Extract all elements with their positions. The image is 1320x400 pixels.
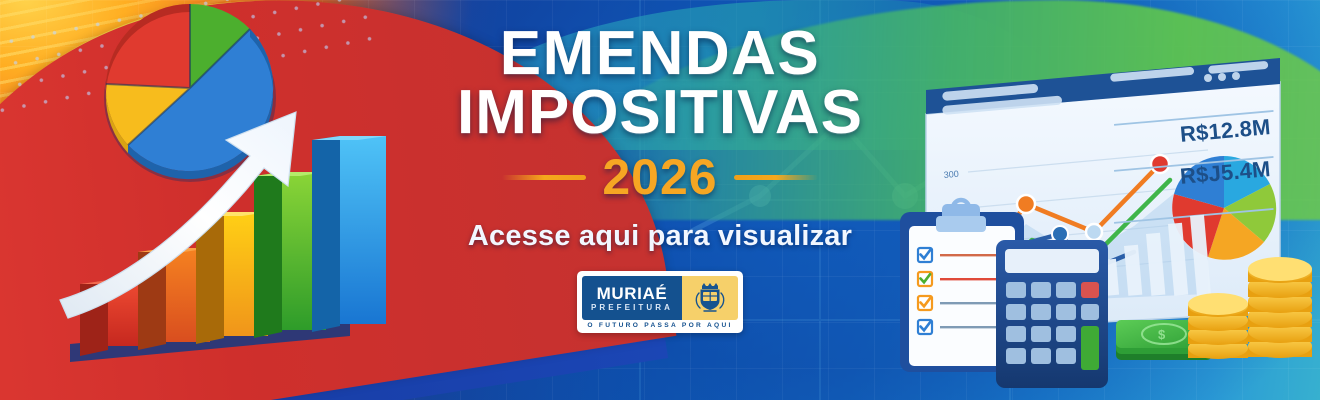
title-line-1: EMENDAS	[500, 22, 821, 85]
year-row: 2026	[502, 148, 817, 206]
title-line-2: IMPOSITIVAS	[457, 81, 863, 144]
coin	[1188, 293, 1248, 359]
subtitle-cta[interactable]: Acesse aqui para visualizar	[468, 220, 852, 253]
calculator-equals-key	[1081, 326, 1099, 370]
svg-text:$: $	[1158, 327, 1166, 342]
headline-block: EMENDAS IMPOSITIVAS 2026 Acesse aqui par…	[410, 22, 910, 400]
right-dashboard-artwork: 300 200 100	[900, 0, 1320, 400]
dash-right-icon	[734, 175, 818, 180]
dash-left-icon	[502, 175, 586, 180]
logo-wordmark-block: MURIAÉ PREFEITURA	[582, 276, 682, 320]
coin-stack-large	[1248, 257, 1312, 358]
coin-stack-small	[1188, 293, 1248, 359]
calculator-clear-key	[1081, 282, 1099, 298]
left-infographic-artwork	[50, 0, 410, 400]
coat-of-arms-icon	[691, 279, 729, 317]
year-label: 2026	[602, 148, 717, 206]
logo-subtitle: PREFEITURA	[591, 304, 673, 312]
svg-text:300: 300	[943, 169, 959, 180]
calculator	[996, 240, 1108, 388]
logo-row: MURIAÉ PREFEITURA	[582, 276, 738, 320]
logo-prefeitura-muriae[interactable]: MURIAÉ PREFEITURA	[577, 271, 743, 333]
coin	[1248, 257, 1312, 358]
calculator-display	[1005, 249, 1099, 273]
logo-tagline: O FUTURO PASSA POR AQUI	[582, 320, 738, 330]
banner-emendas-impositivas[interactable]: EMENDAS IMPOSITIVAS 2026 Acesse aqui par…	[0, 0, 1320, 400]
logo-crest-block	[682, 276, 738, 320]
logo-city-name: MURIAÉ	[597, 285, 668, 302]
